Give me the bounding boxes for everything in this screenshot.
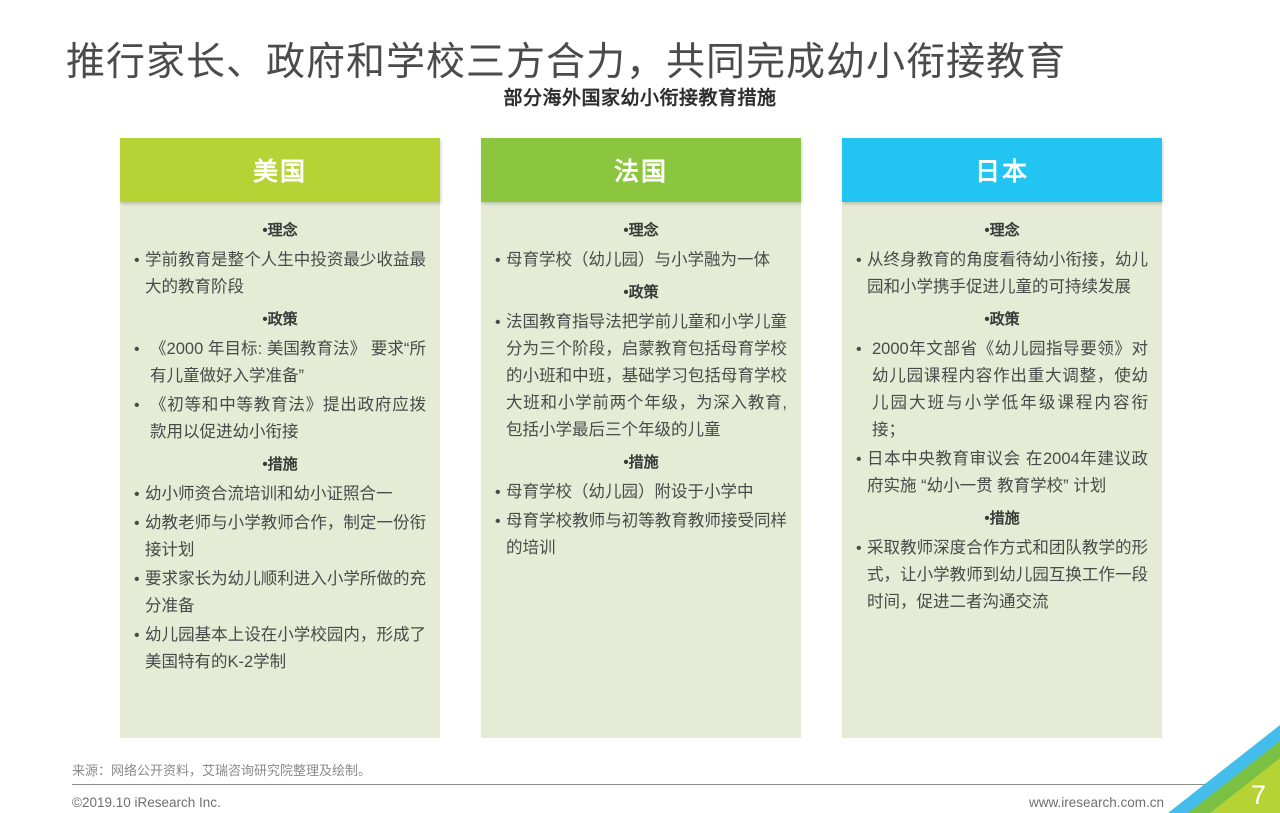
page-title: 推行家长、政府和学校三方合力，共同完成幼小衔接教育 <box>66 38 1226 88</box>
list-item: 从终身教育的角度看待幼小衔接，幼儿园和小学携手促进儿童的可持续发展 <box>856 247 1148 301</box>
country-name: 美国 <box>253 152 307 188</box>
list-item: 《初等和中等教育法》提出政府应拨款用以促进幼小衔接 <box>134 392 426 446</box>
country-header: 日本 <box>842 138 1162 202</box>
section-bullet-list: 采取教师深度合作方式和团队教学的形式，让小学教师到幼儿园互换工作一段时间，促进二… <box>856 535 1148 616</box>
country-column: 美国•理念学前教育是整个人生中投资最少收益最大的教育阶段•政策《2000 年目标… <box>120 138 440 738</box>
section-heading-label: 理念 <box>268 222 298 239</box>
country-name: 日本 <box>975 152 1029 188</box>
section-bullet-list: 幼小师资合流培训和幼小证照合一幼教老师与小学教师合作，制定一份衔接计划要求家长为… <box>134 481 426 676</box>
corner-lime-triangle-icon <box>1210 758 1280 813</box>
section-bullet-list: 从终身教育的角度看待幼小衔接，幼儿园和小学携手促进儿童的可持续发展 <box>856 247 1148 301</box>
country-panel-body: •理念从终身教育的角度看待幼小衔接，幼儿园和小学携手促进儿童的可持续发展•政策2… <box>842 202 1162 738</box>
section-heading: •理念 <box>856 221 1148 241</box>
list-item: 学前教育是整个人生中投资最少收益最大的教育阶段 <box>134 247 426 301</box>
section-heading-label: 理念 <box>629 222 659 239</box>
section-heading-label: 理念 <box>990 222 1020 239</box>
list-item: 母育学校教师与初等教育教师接受同样的培训 <box>495 508 787 562</box>
list-item: 幼小师资合流培训和幼小证照合一 <box>134 481 426 508</box>
country-panel-body: •理念学前教育是整个人生中投资最少收益最大的教育阶段•政策《2000 年目标: … <box>120 202 440 738</box>
section-heading-label: 政策 <box>990 311 1020 328</box>
section-heading: •理念 <box>495 221 787 241</box>
list-item: 《2000 年目标: 美国教育法》 要求“所有儿童做好入学准备” <box>134 336 426 390</box>
section-heading-label: 措施 <box>629 454 659 471</box>
section-bullet-list: 2000年文部省《幼儿园指导要领》对幼儿园课程内容作出重大调整，使幼儿园大班与小… <box>856 336 1148 500</box>
section-bullet-list: 母育学校（幼儿园）附设于小学中母育学校教师与初等教育教师接受同样的培训 <box>495 479 787 562</box>
source-note: 来源：网络公开资料，艾瑞咨询研究院整理及绘制。 <box>72 760 371 779</box>
list-item: 采取教师深度合作方式和团队教学的形式，让小学教师到幼儿园互换工作一段时间，促进二… <box>856 535 1148 616</box>
section-heading: •政策 <box>495 283 787 303</box>
section-heading-label: 政策 <box>268 311 298 328</box>
list-item: 幼教老师与小学教师合作，制定一份衔接计划 <box>134 510 426 564</box>
country-column: 日本•理念从终身教育的角度看待幼小衔接，幼儿园和小学携手促进儿童的可持续发展•政… <box>842 138 1162 738</box>
section-heading: •理念 <box>134 221 426 241</box>
country-panel-body: •理念母育学校（幼儿园）与小学融为一体•政策法国教育指导法把学前儿童和小学儿童分… <box>481 202 801 738</box>
section-bullet-list: 《2000 年目标: 美国教育法》 要求“所有儿童做好入学准备”《初等和中等教育… <box>134 336 426 446</box>
list-item: 日本中央教育审议会 在2004年建议政府实施 “幼小一贯 教育学校” 计划 <box>856 446 1148 500</box>
section-heading: •政策 <box>856 310 1148 330</box>
website-url: www.iresearch.com.cn <box>1029 795 1164 810</box>
footer-divider <box>72 784 1208 785</box>
section-heading-label: 政策 <box>629 284 659 301</box>
section-heading: •措施 <box>495 453 787 473</box>
list-item: 母育学校（幼儿园）与小学融为一体 <box>495 247 787 274</box>
list-item: 2000年文部省《幼儿园指导要领》对幼儿园课程内容作出重大调整，使幼儿园大班与小… <box>856 336 1148 444</box>
section-bullet-list: 学前教育是整个人生中投资最少收益最大的教育阶段 <box>134 247 426 301</box>
country-header: 美国 <box>120 138 440 202</box>
country-name: 法国 <box>614 152 668 188</box>
list-item: 母育学校（幼儿园）附设于小学中 <box>495 479 787 506</box>
section-heading-label: 措施 <box>990 510 1020 527</box>
country-columns: 美国•理念学前教育是整个人生中投资最少收益最大的教育阶段•政策《2000 年目标… <box>120 138 1162 738</box>
section-heading: •措施 <box>134 455 426 475</box>
section-heading-label: 措施 <box>268 456 298 473</box>
chart-subtitle: 部分海外国家幼小衔接教育措施 <box>0 83 1280 110</box>
section-bullet-list: 法国教育指导法把学前儿童和小学儿童分为三个阶段，启蒙教育包括母育学校的小班和中班… <box>495 309 787 444</box>
copyright-text: ©2019.10 iResearch Inc. <box>72 795 221 810</box>
country-column: 法国•理念母育学校（幼儿园）与小学融为一体•政策法国教育指导法把学前儿童和小学儿… <box>481 138 801 738</box>
section-heading: •措施 <box>856 509 1148 529</box>
page-number: 7 <box>1251 782 1266 809</box>
country-header: 法国 <box>481 138 801 202</box>
section-bullet-list: 母育学校（幼儿园）与小学融为一体 <box>495 247 787 274</box>
list-item: 法国教育指导法把学前儿童和小学儿童分为三个阶段，启蒙教育包括母育学校的小班和中班… <box>495 309 787 444</box>
list-item: 要求家长为幼儿顺利进入小学所做的充分准备 <box>134 566 426 620</box>
section-heading: •政策 <box>134 310 426 330</box>
list-item: 幼儿园基本上设在小学校园内，形成了美国特有的K-2学制 <box>134 622 426 676</box>
